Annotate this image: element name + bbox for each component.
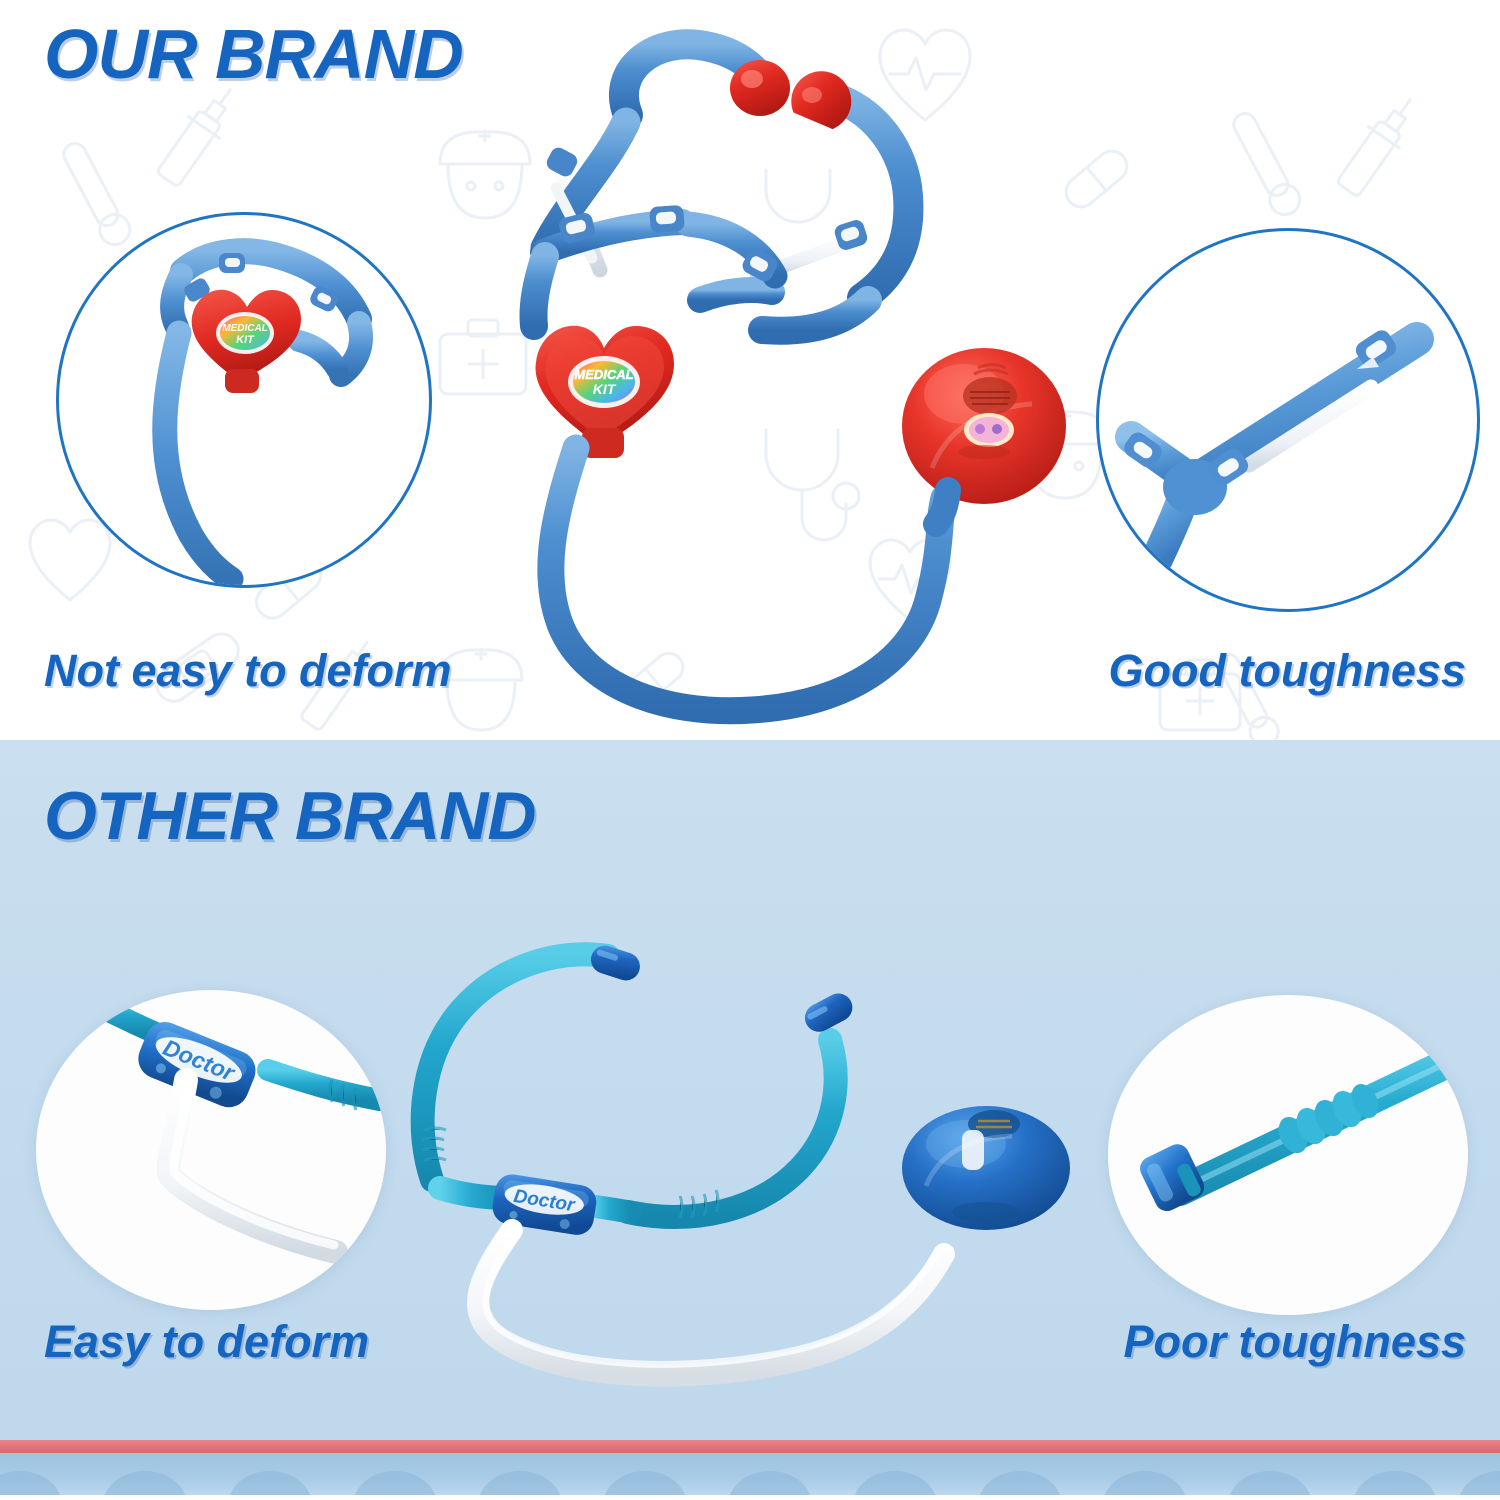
- product-sticker-text-line2: KIT: [593, 381, 617, 397]
- inset-easy-to-deform: Doctor: [36, 990, 386, 1310]
- footer-scallop-pattern: [0, 1453, 1500, 1495]
- caption-not-easy-to-deform: Not easy to deform: [44, 645, 452, 697]
- caption-easy-to-deform: Easy to deform: [44, 1316, 369, 1368]
- svg-text:KIT: KIT: [236, 334, 255, 346]
- product-sticker-text-line1: MEDICAL: [574, 367, 633, 382]
- footer-band: [0, 1440, 1500, 1500]
- page-title-our-brand: OUR BRAND: [44, 14, 463, 94]
- footer-red-stripe: [0, 1440, 1500, 1453]
- comparison-infographic: MEDICAL KIT: [0, 0, 1500, 1500]
- our-brand-panel: MEDICAL KIT: [0, 0, 1500, 740]
- caption-poor-toughness: Poor toughness: [1123, 1316, 1466, 1368]
- svg-text:MEDICAL: MEDICAL: [222, 323, 268, 334]
- inset-poor-toughness: [1108, 995, 1468, 1315]
- page-title-other-brand: OTHER BRAND: [44, 777, 535, 855]
- inset-not-easy-to-deform: MEDICAL KIT: [56, 212, 432, 588]
- other-brand-panel: Doctor: [0, 740, 1500, 1440]
- caption-good-toughness: Good toughness: [1109, 645, 1466, 697]
- inset-good-toughness: [1096, 228, 1480, 612]
